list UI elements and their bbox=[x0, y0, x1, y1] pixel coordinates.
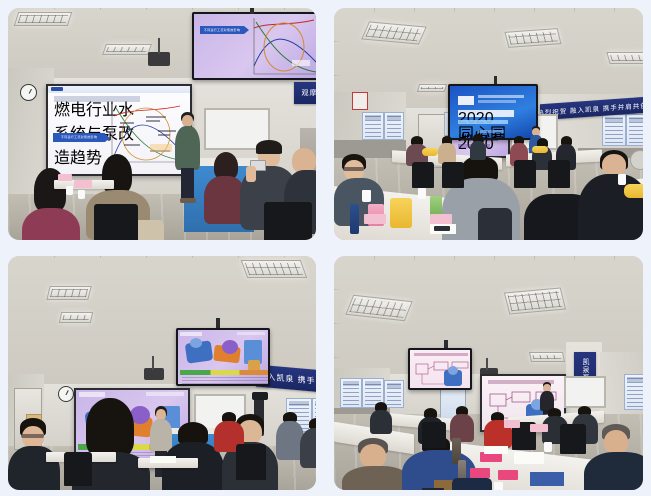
slide-eyebrow bbox=[478, 100, 516, 103]
ceiling-tv[interactable]: 2020 凯泉泵业集团年度总结 同心同德 共创美好未来 bbox=[448, 84, 538, 140]
attendee bbox=[584, 424, 643, 490]
ceiling-projector bbox=[148, 52, 170, 66]
name-tent bbox=[430, 214, 452, 224]
tv-slide-chart bbox=[250, 16, 316, 78]
name-tent bbox=[530, 424, 548, 432]
ceiling-light bbox=[102, 44, 152, 55]
ceiling-light bbox=[606, 52, 643, 64]
wall-poster bbox=[362, 112, 384, 140]
wall-poster bbox=[602, 114, 626, 146]
mobile-phone bbox=[422, 488, 444, 490]
attendee bbox=[438, 136, 456, 164]
attendee bbox=[370, 402, 392, 434]
glasses bbox=[343, 167, 364, 171]
ceiling-tv[interactable] bbox=[176, 328, 270, 386]
wall-poster bbox=[384, 112, 404, 140]
ceiling-light bbox=[241, 260, 308, 278]
slide-title: 2020 凯泉泵业集团年度总结 bbox=[458, 110, 514, 117]
slide-header bbox=[180, 332, 202, 336]
ceiling-tv[interactable] bbox=[408, 348, 472, 390]
document bbox=[484, 446, 508, 454]
cup bbox=[362, 190, 371, 202]
ceiling-light bbox=[14, 12, 73, 26]
slide-year bbox=[458, 96, 474, 105]
attendee bbox=[334, 154, 384, 240]
chair bbox=[442, 162, 464, 188]
ceiling-light bbox=[59, 312, 93, 323]
ceiling-light bbox=[529, 352, 565, 362]
projector-mount bbox=[152, 356, 154, 370]
glasses bbox=[21, 434, 44, 438]
pump-render bbox=[190, 338, 202, 348]
attendee bbox=[484, 412, 512, 448]
chair bbox=[264, 202, 312, 240]
tv-slide-callout: 不同运行工况对泵的影响 bbox=[200, 26, 244, 34]
thermos-flask bbox=[350, 204, 359, 234]
chair bbox=[94, 204, 138, 240]
camera bbox=[252, 392, 268, 400]
fruit bbox=[422, 148, 438, 156]
photo-top-left[interactable]: 不同运行工况对泵的影响 观摩 同 bbox=[8, 8, 316, 240]
wall-clock bbox=[20, 84, 37, 101]
name-tent bbox=[504, 420, 520, 428]
safety-sign bbox=[352, 92, 368, 110]
projector-mount bbox=[158, 38, 160, 54]
cup bbox=[66, 186, 73, 195]
cup bbox=[418, 188, 426, 199]
backpack bbox=[478, 208, 512, 240]
scene-bottom-left: 融入凯泉 携手并肩 bbox=[8, 256, 316, 490]
name-tent bbox=[58, 174, 72, 181]
chair bbox=[236, 444, 266, 480]
photo-bottom-right[interactable]: 凯泉泵业 bbox=[334, 256, 643, 490]
timeline-bar bbox=[180, 370, 268, 375]
pump-render bbox=[222, 340, 238, 354]
slide-header bbox=[237, 332, 265, 335]
wall-poster bbox=[340, 378, 362, 408]
whiteboard bbox=[564, 376, 606, 408]
photo-top-right[interactable]: 热烈祝贺 融入凯泉 携手并肩共创未来 2020 年度总结 2020 bbox=[334, 8, 643, 240]
ceiling-light bbox=[417, 84, 447, 92]
wall-poster bbox=[626, 114, 643, 146]
wall-banner: 观摩 同 bbox=[294, 82, 316, 104]
name-tent bbox=[470, 468, 490, 478]
cup bbox=[78, 190, 85, 199]
slide-footer bbox=[478, 130, 504, 133]
chair bbox=[64, 452, 92, 486]
snack-pack bbox=[390, 198, 412, 228]
name-tent bbox=[74, 180, 92, 188]
slide-eyebrow bbox=[478, 95, 524, 98]
slide-header bbox=[146, 392, 184, 396]
cup bbox=[618, 174, 626, 185]
cup bbox=[544, 442, 552, 452]
tv-mount bbox=[250, 8, 254, 14]
slide-header bbox=[48, 86, 190, 93]
chair bbox=[422, 422, 446, 448]
pump-graphic bbox=[448, 366, 458, 375]
fruit bbox=[532, 146, 548, 153]
scene-top-right: 热烈祝贺 融入凯泉 携手并肩共创未来 2020 年度总结 2020 bbox=[334, 8, 643, 240]
presenter bbox=[172, 112, 204, 202]
slide-title bbox=[414, 353, 468, 356]
chair bbox=[548, 160, 570, 188]
photo-bottom-left[interactable]: 融入凯泉 携手并肩 bbox=[8, 256, 316, 490]
scene-top-left: 不同运行工况对泵的影响 观摩 同 bbox=[8, 8, 316, 240]
ceiling-projector bbox=[144, 368, 164, 380]
chair bbox=[560, 424, 586, 454]
backpack bbox=[452, 478, 492, 490]
slide-logo bbox=[51, 87, 63, 91]
slide-callout: 不同运行工况对泵的影响 bbox=[53, 133, 105, 142]
name-tent bbox=[498, 470, 518, 480]
wall-poster bbox=[624, 374, 643, 410]
chair bbox=[514, 160, 536, 188]
slide-caption bbox=[182, 376, 268, 384]
photo-gallery: 不同运行工况对泵的影响 观摩 同 bbox=[0, 0, 651, 496]
slide-header bbox=[79, 392, 105, 397]
cup bbox=[494, 482, 503, 490]
wall-tv[interactable]: 不同运行工况对泵的影响 bbox=[192, 12, 316, 80]
document bbox=[150, 456, 176, 463]
fruit bbox=[624, 184, 643, 198]
slide-subtitle: 同心同德 共创美好未来 bbox=[458, 120, 508, 124]
attendee bbox=[300, 418, 316, 468]
attendee bbox=[470, 134, 486, 160]
document bbox=[514, 452, 544, 464]
mobile-phone bbox=[434, 226, 450, 231]
chair bbox=[412, 162, 434, 188]
document bbox=[530, 472, 564, 486]
scene-bottom-right: 凯泉泵业 bbox=[334, 256, 643, 490]
name-tent bbox=[364, 214, 386, 224]
ceiling-light bbox=[46, 286, 91, 300]
projector-mount bbox=[486, 358, 488, 370]
